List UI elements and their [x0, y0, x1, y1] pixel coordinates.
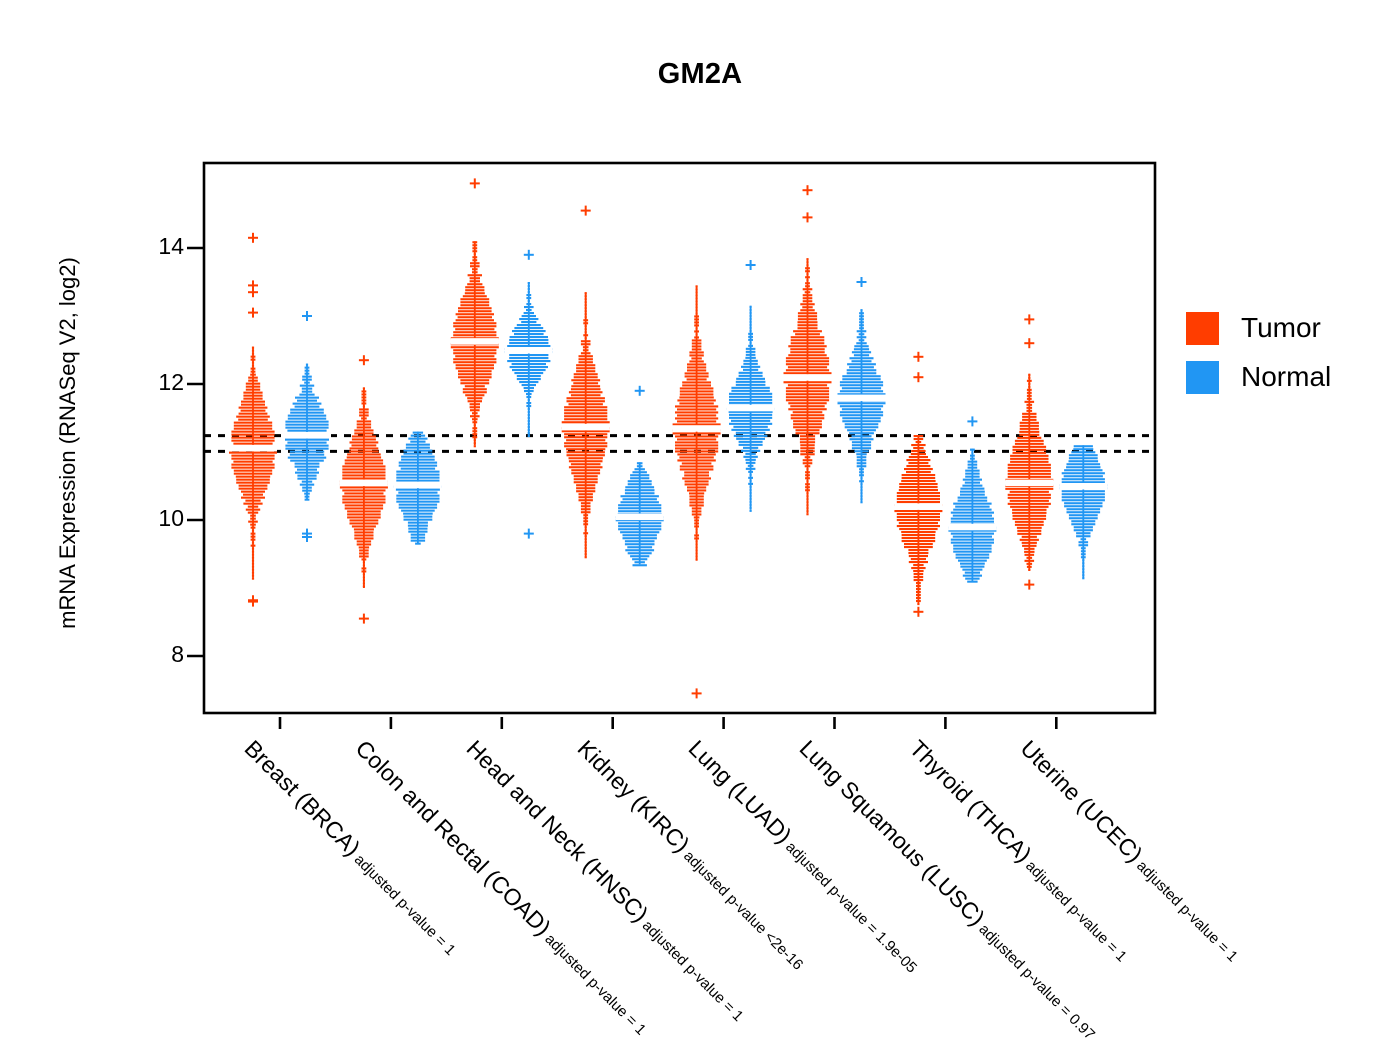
tumor-group-3-point-row: [585, 301, 587, 303]
tumor-group-6-point-row: [897, 513, 940, 515]
tumor-group-6-point-row: [911, 567, 925, 569]
tumor-group-7-point-row: [1025, 560, 1035, 562]
normal-group-0-point-row: [302, 388, 312, 390]
normal-group-2-median-line: [505, 347, 553, 354]
tumor-group-4-point-row: [682, 381, 711, 383]
normal-group-7-point-row: [1082, 565, 1084, 567]
tumor-group-0-point-row: [248, 377, 258, 379]
tumor-group-7-point-row: [1024, 548, 1034, 550]
normal-group-4-point-row: [748, 471, 753, 473]
tumor-group-4-point-row: [677, 408, 716, 410]
normal-group-6-point-row: [960, 566, 984, 568]
tumor-group-1-point-row: [363, 585, 365, 587]
tumor-group-7-point-row: [1028, 569, 1030, 571]
tumor-group-6-point-row: [909, 555, 928, 557]
normal-group-2-point-row: [528, 282, 530, 284]
tumor-group-5-point-row: [798, 318, 817, 320]
chart-canvas: GM2A mRNA Expression (RNASeq V2, log2) 8…: [0, 0, 1400, 1000]
tumor-group-2-point-row: [472, 271, 478, 273]
tumor-group-5-point-row: [806, 273, 808, 275]
tumor-group-5-point-row: [786, 396, 829, 398]
tumor-group-5-point-row: [786, 360, 829, 362]
normal-group-4-point-row: [750, 489, 752, 491]
tumor-group-5-point-row: [806, 507, 808, 509]
normal-group-4-point-row: [739, 444, 763, 446]
normal-group-7-point-row: [1062, 490, 1105, 492]
tumor-group-4-point-row: [694, 522, 699, 524]
tumor-group-3-point-row: [583, 517, 588, 519]
normal-group-2-point-row: [526, 405, 531, 407]
tumor-group-1-point-row: [363, 561, 365, 563]
normal-group-2-point-row: [512, 369, 546, 371]
tumor-group-0-point-row: [252, 572, 254, 574]
normal-group-6-point-row: [951, 518, 994, 520]
tumor-group-5-point-row: [788, 345, 826, 347]
tumor-group-1-point-row: [362, 402, 367, 404]
normal-group-4-point-row: [748, 345, 753, 347]
normal-group-6-point-row: [968, 464, 978, 466]
tumor-group-7-point-row: [1013, 515, 1047, 517]
tumor-group-7-point-row: [1005, 488, 1053, 490]
tumor-group-0-point-row: [251, 533, 256, 535]
tumor-group-3-point-row: [579, 493, 593, 495]
tumor-group-1-point-row: [359, 546, 369, 548]
tumor-group-4-point-row: [682, 477, 711, 479]
normal-group-4-point-row: [750, 324, 752, 326]
tumor-group-3-point-row: [583, 520, 588, 522]
normal-group-5-point-row: [849, 432, 874, 434]
tumor-group-4-point-row: [677, 414, 716, 416]
tumor-group-0-point-row: [252, 563, 254, 565]
tumor-group-2-point-row: [472, 430, 477, 432]
normal-group-4-point-row: [750, 312, 752, 314]
normal-group-0-point-row: [300, 484, 314, 486]
tumor-group-2-point-row: [472, 256, 477, 258]
tumor-group-3-point-row: [567, 454, 605, 456]
tumor-group-3-point-row: [569, 403, 603, 405]
tumor-group-5-point-row: [803, 297, 813, 299]
normal-group-5-point-row: [849, 366, 874, 368]
normal-group-0-point-row: [295, 466, 320, 468]
tumor-group-0-point-row: [246, 509, 260, 511]
tumor-group-3-point-row: [581, 343, 591, 345]
tumor-group-0-point-row: [251, 539, 256, 541]
normal-group-3-point-row: [625, 486, 654, 488]
normal-group-4-point-row: [736, 378, 765, 380]
tumor-group-5-point-row: [786, 357, 829, 359]
normal-group-5-point-row: [845, 426, 879, 428]
normal-group-2-point-row: [526, 402, 531, 404]
tumor-group-4-point-row: [691, 357, 701, 359]
normal-group-5-point-row: [860, 477, 862, 479]
normal-group-1-point-row: [396, 480, 439, 482]
tumor-group-1-median-line: [340, 480, 388, 487]
tumor-group-5-point-row: [790, 405, 824, 407]
normal-group-1-point-row: [411, 540, 425, 542]
tumor-group-0-point-row: [243, 503, 262, 505]
tumor-group-6-point-row: [904, 543, 933, 545]
tumor-group-1-point-row: [347, 513, 381, 515]
normal-group-0-point-row: [302, 487, 312, 489]
tumor-group-4-point-row: [696, 288, 698, 290]
tumor-group-5-point-row: [798, 324, 818, 326]
tumor-group-6-point-row: [908, 462, 928, 464]
tumor-group-3-point-row: [571, 379, 600, 381]
tumor-group-1-point-row: [363, 405, 365, 407]
normal-group-4-point-row: [743, 360, 757, 362]
tumor-group-2-point-row: [474, 442, 476, 444]
normal-group-3-point-row: [621, 501, 659, 503]
normal-group-3-point-row: [630, 555, 649, 557]
normal-group-2-point-row: [528, 432, 530, 434]
normal-group-0-point-row: [293, 403, 322, 405]
tumor-group-6-point-row: [897, 498, 940, 500]
normal-group-5-point-row: [842, 420, 880, 422]
tumor-group-5-point-row: [806, 495, 808, 497]
tumor-group-4-point-row: [685, 483, 709, 485]
tumor-group-5-point-row: [806, 498, 808, 500]
tumor-group-4-point-row: [696, 333, 698, 335]
tumor-group-1-point-row: [359, 549, 369, 551]
normal-group-3-point-row: [621, 495, 659, 497]
tumor-group-2-point-row: [472, 250, 477, 252]
tumor-group-5-point-row: [803, 294, 813, 296]
normal-group-6-point-row: [951, 539, 994, 541]
tumor-group-6-point-row: [913, 447, 923, 449]
normal-group-2-point-row: [528, 285, 530, 287]
normal-group-6-point-row: [965, 578, 979, 580]
normal-group-5-point-row: [857, 336, 867, 338]
tumor-group-0-point-row: [252, 542, 254, 544]
tumor-group-4-point-row: [689, 498, 703, 500]
normal-group-3-point-row: [625, 549, 654, 551]
tumor-group-6-point-row: [897, 492, 940, 494]
normal-group-2-point-row: [526, 396, 531, 398]
tumor-group-0-point-row: [251, 371, 256, 373]
normal-group-7-point-row: [1081, 547, 1086, 549]
normal-group-2-point-row: [528, 414, 530, 416]
tumor-group-0-point-row: [236, 476, 270, 478]
tumor-group-0-point-row: [231, 434, 274, 436]
tumor-group-3-point-row: [564, 445, 607, 447]
tumor-group-3-point-row: [564, 442, 607, 444]
normal-group-7-point-row: [1064, 502, 1102, 504]
tumor-group-1-point-row: [347, 456, 381, 458]
tumor-group-4-point-row: [692, 513, 702, 515]
tumor-group-5-point-row: [806, 468, 808, 470]
normal-group-0-point-row: [290, 454, 324, 456]
normal-group-0-point-row: [290, 409, 324, 411]
normal-group-4-point-row: [743, 447, 758, 449]
tumor-group-5-point-row: [791, 417, 825, 419]
tumor-group-6-point-row: [913, 564, 923, 566]
tumor-group-4-point-row: [696, 327, 698, 329]
tumor-group-0-point-row: [251, 536, 256, 538]
tumor-group-3-point-row: [564, 412, 607, 414]
tumor-group-3-point-row: [583, 346, 589, 348]
normal-group-7-point-row: [1081, 553, 1086, 555]
tumor-group-0-point-row: [231, 464, 274, 466]
normal-group-4-point-row: [736, 381, 766, 383]
normal-group-5-point-row: [842, 417, 880, 419]
tumor-group-5-point-row: [805, 270, 810, 272]
tumor-group-3-point-row: [581, 508, 591, 510]
normal-group-6-point-row: [953, 536, 992, 538]
tumor-group-4-point-row: [696, 558, 698, 560]
tumor-group-2-point-row: [453, 322, 496, 324]
tumor-group-4-point-row: [687, 378, 707, 380]
normal-group-6-point-row: [965, 482, 980, 484]
tumor-group-0-point-row: [252, 578, 254, 580]
tumor-group-0-point-row: [252, 353, 254, 355]
normal-group-0-point-row: [290, 460, 324, 462]
normal-group-4-point-row: [729, 417, 772, 419]
tumor-group-3-point-row: [585, 298, 587, 300]
normal-group-4-point-row: [748, 336, 753, 338]
tumor-group-2-point-row: [460, 382, 489, 384]
tumor-group-2-point-row: [460, 301, 489, 303]
tumor-group-5-point-row: [788, 354, 826, 356]
tumor-group-3-point-row: [585, 547, 587, 549]
tumor-group-6-point-row: [914, 573, 924, 575]
tumor-group-4-point-row: [675, 411, 718, 413]
tumor-group-1-point-row: [362, 558, 367, 560]
tumor-group-3-point-row: [579, 358, 593, 360]
normal-group-3-point-row: [618, 510, 661, 512]
normal-group-2-point-row: [510, 366, 548, 368]
tumor-group-1-point-row: [357, 543, 371, 545]
tumor-group-2-point-row: [470, 415, 480, 417]
normal-group-4-point-row: [750, 318, 752, 320]
tumor-group-4-point-row: [684, 474, 709, 476]
normal-group-3-point-row: [630, 474, 649, 476]
tumor-group-7-point-row: [1022, 416, 1036, 418]
normal-group-4-point-row: [750, 510, 752, 512]
tumor-group-0-point-row: [248, 512, 258, 514]
tumor-group-4-point-row: [687, 486, 706, 488]
legend-item-tumor[interactable]: Tumor: [1186, 308, 1331, 348]
tumor-group-3-point-row: [585, 316, 587, 318]
tumor-group-5-point-row: [786, 387, 829, 389]
tumor-group-7-point-row: [1025, 554, 1035, 556]
normal-group-7-point-row: [1069, 457, 1098, 459]
normal-group-7-point-row: [1076, 535, 1090, 537]
normal-group-1-point-row: [401, 456, 435, 458]
normal-group-7-point-row: [1071, 451, 1095, 453]
tumor-group-4-point-row: [685, 372, 709, 374]
tumor-group-1-point-row: [363, 564, 365, 566]
normal-group-0-point-row: [297, 400, 317, 402]
tumor-group-4-point-row: [677, 453, 715, 455]
tumor-group-6-point-row: [899, 522, 938, 524]
tumor-group-4-point-row: [687, 363, 706, 365]
tumor-group-4-point-row: [685, 375, 709, 377]
legend-item-normal[interactable]: Normal: [1186, 357, 1331, 397]
normal-group-5-point-row: [854, 348, 869, 350]
tumor-group-3-point-row: [585, 331, 587, 333]
normal-group-4-point-row: [748, 333, 753, 335]
normal-group-5-point-row: [857, 465, 867, 467]
tumor-group-5-median-line: [784, 374, 832, 381]
tumor-group-4-point-row: [696, 300, 698, 302]
normal-group-1-point-row: [401, 468, 435, 470]
tumor-group-3-point-row: [564, 433, 607, 435]
normal-group-3-point-row: [618, 504, 661, 506]
normal-group-7-point-row: [1082, 571, 1084, 573]
normal-group-5-point-row: [840, 381, 883, 383]
normal-group-5-point-row: [859, 474, 864, 476]
normal-group-6-point-row: [962, 569, 982, 571]
tumor-group-6-point-row: [899, 483, 937, 485]
normal-group-4-point-row: [745, 357, 755, 359]
normal-group-6-point-row: [951, 512, 994, 514]
normal-group-7-point-row: [1079, 541, 1089, 543]
tumor-group-5-point-row: [806, 480, 808, 482]
tumor-group-3-point-row: [579, 496, 593, 498]
tumor-group-6-point-row: [902, 534, 936, 536]
tumor-group-7-point-row: [1013, 449, 1047, 451]
normal-group-1-point-row: [403, 513, 433, 515]
normal-group-0-point-row: [302, 379, 312, 381]
normal-group-4-point-row: [748, 483, 753, 485]
normal-group-5-point-row: [854, 450, 868, 452]
normal-group-6-point-row: [960, 491, 985, 493]
tumor-group-4-point-row: [694, 537, 699, 539]
normal-group-5-point-row: [852, 435, 872, 437]
normal-group-1-point-row: [408, 528, 427, 530]
normal-group-0-point-row: [288, 418, 326, 420]
tumor-group-0-point-row: [251, 356, 256, 358]
tumor-group-4-point-row: [677, 459, 715, 461]
normal-group-2-point-row: [510, 336, 548, 338]
normal-group-0-point-row: [302, 391, 312, 393]
normal-group-4-point-row: [746, 462, 756, 464]
tumor-group-1-point-row: [362, 393, 367, 395]
tumor-group-7-point-row: [1019, 434, 1039, 436]
tumor-group-2-point-row: [470, 406, 480, 408]
tumor-group-1-point-row: [359, 552, 369, 554]
normal-group-0-point-row: [295, 463, 320, 465]
normal-group-2-point-row: [514, 327, 543, 329]
normal-group-5-point-row: [847, 363, 876, 365]
tumor-group-5-point-row: [793, 330, 822, 332]
tumor-group-6-point-row: [904, 546, 933, 548]
tumor-group-4-point-row: [675, 447, 718, 449]
tumor-group-0-point-row: [251, 527, 256, 529]
tumor-group-2-point-row: [453, 349, 496, 351]
tumor-group-4-point-row: [692, 339, 702, 341]
tumor-group-3-point-row: [585, 295, 587, 297]
tumor-group-5-point-row: [805, 291, 811, 293]
tumor-group-1-point-row: [354, 537, 373, 539]
tumor-group-5-point-row: [784, 372, 832, 374]
tumor-group-7-point-row: [1017, 533, 1041, 535]
tumor-group-5-point-row: [806, 510, 808, 512]
normal-group-7-point-row: [1082, 562, 1084, 564]
tumor-group-3-point-row: [585, 292, 587, 294]
normal-group-3-point-row: [637, 465, 643, 467]
tumor-group-5-point-row: [793, 423, 822, 425]
tumor-group-6-point-row: [902, 537, 936, 539]
normal-group-2-point-row: [526, 297, 531, 299]
tumor-group-4-point-row: [675, 435, 718, 437]
tumor-group-1-point-row: [347, 453, 381, 455]
normal-group-0-point-row: [285, 448, 328, 450]
tumor-group-6-point-row: [897, 516, 940, 518]
normal-group-5-point-row: [840, 390, 883, 392]
tumor-group-2-point-row: [472, 427, 477, 429]
tumor-group-6-point-row: [911, 453, 926, 455]
tumor-group-3-point-row: [581, 340, 591, 342]
tumor-group-2-point-row: [465, 289, 484, 291]
normal-group-1-point-row: [396, 501, 439, 503]
normal-group-4-point-row: [745, 459, 755, 461]
tumor-group-3-point-row: [585, 325, 587, 327]
tumor-group-5-point-row: [788, 366, 827, 368]
tumor-group-0-point-row: [252, 365, 254, 367]
normal-group-3-point-row: [628, 480, 652, 482]
normal-group-5-point-row: [856, 453, 866, 455]
normal-group-1-point-row: [399, 504, 437, 506]
tumor-group-5-point-row: [790, 351, 824, 353]
tumor-group-7-point-row: [1013, 446, 1047, 448]
normal-group-1-point-row: [399, 507, 437, 509]
normal-group-7-point-row: [1067, 511, 1101, 513]
tumor-group-4-point-row: [692, 510, 702, 512]
tumor-group-5-point-row: [806, 258, 808, 260]
normal-group-7-point-row: [1066, 466, 1100, 468]
tumor-group-7-point-row: [1008, 497, 1051, 499]
tumor-group-4-point-row: [680, 393, 714, 395]
tumor-group-0-point-row: [252, 362, 254, 364]
tumor-group-4-point-row: [696, 549, 698, 551]
tumor-group-1-point-row: [352, 438, 376, 440]
normal-group-0-point-row: [297, 478, 316, 480]
tumor-group-4-median-line: [673, 425, 721, 432]
normal-group-5-point-row: [852, 351, 871, 353]
tumor-group-4-point-row: [692, 342, 702, 344]
normal-group-5-point-row: [838, 402, 886, 404]
tumor-group-4-point-row: [682, 384, 711, 386]
tumor-group-0-point-row: [234, 428, 272, 430]
tumor-group-5-point-row: [800, 438, 815, 440]
tumor-group-5-point-row: [793, 420, 822, 422]
tumor-group-7-point-row: [1017, 530, 1041, 532]
normal-group-7-point-row: [1062, 472, 1105, 474]
normal-group-4-point-row: [741, 450, 760, 452]
tumor-group-4-point-row: [677, 399, 715, 401]
tumor-group-3-point-row: [583, 349, 589, 351]
tumor-group-0-point-row: [252, 575, 254, 577]
normal-group-0-point-row: [302, 481, 312, 483]
normal-group-3-point-row: [618, 525, 661, 527]
tumor-group-2-point-row: [456, 313, 494, 315]
normal-group-1-point-row: [406, 444, 430, 446]
tumor-group-6-point-row: [916, 588, 921, 590]
normal-group-7-point-row: [1073, 448, 1093, 450]
tumor-group-6-point-row: [897, 519, 940, 521]
tumor-group-0-point-row: [233, 461, 272, 463]
tumor-group-3-point-row: [585, 526, 587, 528]
normal-group-3-point-row: [625, 489, 655, 491]
tumor-group-3-point-row: [566, 448, 605, 450]
normal-group-4-point-row: [731, 429, 769, 431]
normal-group-5-point-row: [847, 429, 876, 431]
tumor-group-5-point-row: [786, 390, 829, 392]
tumor-group-7-point-row: [1028, 374, 1030, 376]
tumor-group-7-point-row: [1025, 401, 1035, 403]
tumor-group-5-point-row: [791, 342, 825, 344]
